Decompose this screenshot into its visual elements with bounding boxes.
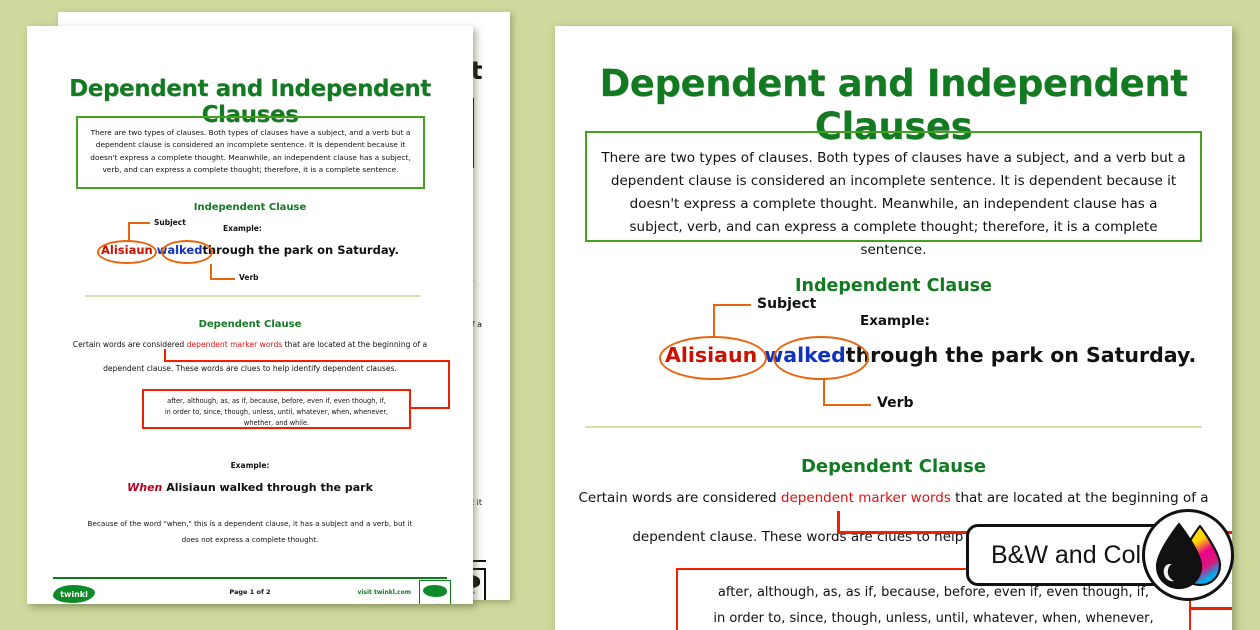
dependent-marker-key-box: after, although, as, as if, because, bef… (142, 389, 411, 429)
zoom-verb-label: Verb (877, 395, 914, 411)
subject-leader-vertical (128, 222, 130, 241)
red-connector-into-box (410, 407, 450, 409)
zoom-subject-leader-horizontal (713, 304, 751, 306)
subject-label: Subject (154, 218, 186, 227)
dependent-line1-before: Certain words are considered (73, 340, 187, 349)
dependent-example-label: Example: (27, 461, 473, 470)
front-color-page[interactable]: Dependent and Independent Clauses There … (27, 26, 473, 604)
red-connector-across (164, 360, 450, 362)
intro-box: There are two types of clauses. Both typ… (76, 116, 425, 189)
sentence-remainder: through the park on Saturday. (202, 243, 399, 257)
zoom-sentence-remainder: through the park on Saturday. (846, 343, 1196, 367)
section-divider (85, 295, 420, 297)
zoom-verb-word: walked (764, 343, 845, 367)
zoom-red-connector-down-left (837, 511, 840, 533)
zoom-dependent-line-1: Certain words are considered dependent m… (555, 490, 1232, 506)
zoom-dependent-marker-words: dependent marker words (781, 490, 951, 506)
dependent-example-rest: Alisiaun walked through the park (162, 481, 373, 494)
independent-example-sentence: Alisiaun walkedthrough the park on Satur… (101, 243, 399, 257)
verb-label: Verb (239, 273, 259, 282)
zoom-independent-example-label: Example: (860, 313, 930, 329)
zoom-independent-example-sentence: Alisiaun walkedthrough the park on Satur… (665, 343, 1196, 367)
zoom-key-box-line-2: in order to, since, though, unless, unti… (678, 606, 1189, 630)
bw-and-color-label: B&W and Color (991, 541, 1163, 570)
zoom-subject-leader-vertical (713, 304, 715, 338)
closing-line-1: Because of the word "when," this is a de… (27, 519, 473, 528)
dependent-marker-when: When (127, 481, 162, 494)
zoom-dependent-line1-before: Certain words are considered (578, 490, 780, 506)
subject-word: Alisiaun (101, 243, 153, 257)
ink-drop-icon (1142, 509, 1234, 601)
verb-leader-horizontal (210, 278, 235, 280)
dependent-clause-heading: Dependent Clause (27, 319, 473, 330)
key-box-line-1: after, although, as, as if, because, bef… (144, 396, 409, 407)
footer-rule (53, 577, 447, 579)
dependent-line-1: Certain words are considered dependent m… (27, 340, 473, 349)
verb-word: walked (157, 243, 203, 257)
zoom-dependent-clause-heading: Dependent Clause (555, 456, 1232, 477)
qr-code[interactable]: twinkl (419, 580, 451, 604)
visit-url-text: visit twinkl.com (357, 589, 411, 596)
subject-leader-horizontal (128, 222, 150, 224)
zoom-intro-box: There are two types of clauses. Both typ… (585, 131, 1202, 242)
red-connector-down-right (448, 360, 450, 408)
key-box-line-3: whether, and while. (144, 418, 409, 429)
dependent-line-2: dependent clause. These words are clues … (27, 364, 473, 373)
dependent-example-sentence: When Alisiaun walked through the park (27, 481, 473, 494)
zoom-red-connector-into-box (1191, 607, 1232, 610)
zoom-dependent-line1-after: that are located at the beginning of a (951, 490, 1209, 506)
zoom-verb-leader-vertical (823, 378, 825, 406)
zoom-verb-leader-horizontal (823, 404, 871, 406)
zoom-subject-label: Subject (757, 296, 816, 312)
zoom-independent-clause-heading: Independent Clause (555, 276, 1232, 296)
dependent-line1-after: that are located at the beginning of a (282, 340, 427, 349)
zoom-subject-word: Alisiaun (665, 343, 757, 367)
qr-caption: twinkl (420, 603, 450, 604)
dependent-marker-words: dependent marker words (187, 340, 283, 349)
independent-clause-heading: Independent Clause (27, 202, 473, 213)
zoom-section-divider (585, 426, 1202, 428)
closing-line-2: does not express a complete thought. (27, 535, 473, 544)
independent-example-label: Example: (223, 224, 262, 233)
key-box-line-2: in order to, since, though, unless, unti… (144, 407, 409, 418)
